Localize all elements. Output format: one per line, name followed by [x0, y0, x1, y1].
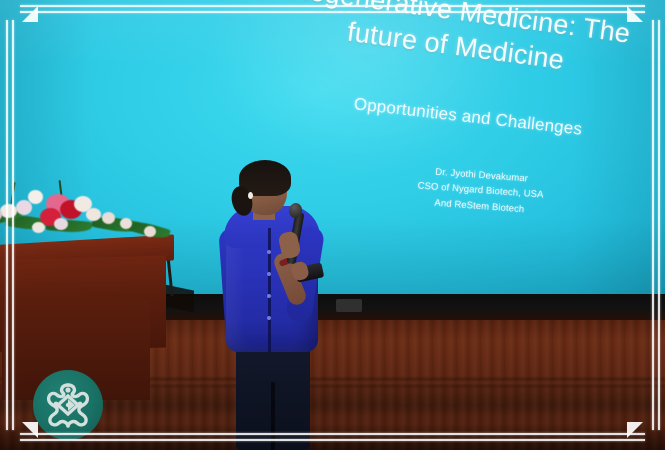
speaker-shirt-placket [268, 228, 271, 352]
logo-ornament-icon [42, 379, 94, 431]
flower-bloom [54, 218, 68, 230]
organization-logo [33, 370, 103, 440]
flower-bloom [32, 222, 45, 233]
flower-bloom [0, 204, 17, 218]
flower-stem [10, 182, 15, 204]
flower-bloom [120, 218, 132, 229]
shirt-button [267, 250, 271, 254]
flower-bloom [16, 200, 32, 215]
shirt-button [267, 316, 271, 320]
speaker-leg-gap [271, 382, 275, 450]
shirt-button [267, 294, 271, 298]
flower-bloom [102, 212, 115, 224]
flower-bloom [86, 208, 101, 221]
photo-canvas: Regenerative Medicine: The future of Med… [0, 0, 665, 450]
speaker-earring [248, 192, 253, 199]
flower-bloom [144, 226, 156, 237]
flower-arrangement [0, 186, 173, 252]
shirt-button [267, 272, 271, 276]
